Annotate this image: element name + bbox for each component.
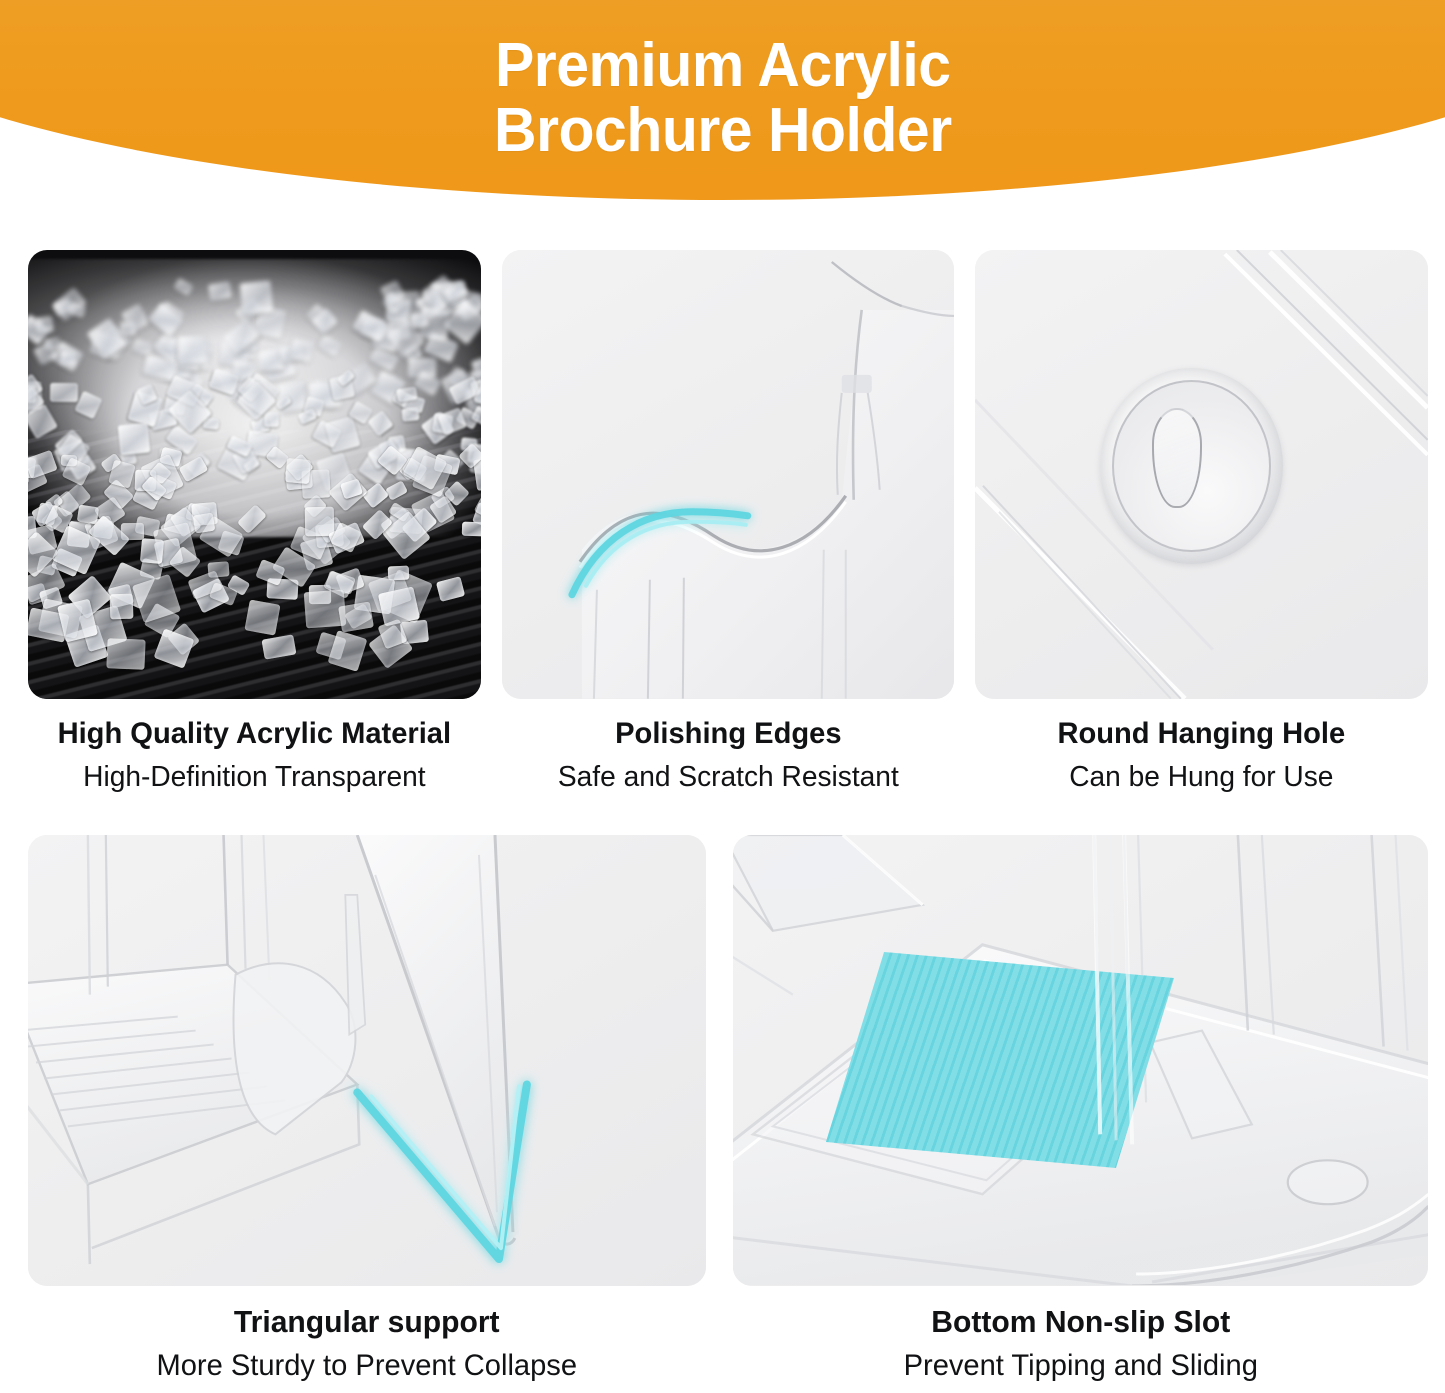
acrylic-pellet (264, 412, 279, 428)
feature-caption-triangular-support: Triangular support More Sturdy to Preven… (28, 1286, 706, 1384)
feature-card-hanging-hole: Round Hanging Hole Can be Hung for Use (975, 250, 1428, 795)
feature-caption-hanging-hole: Round Hanging Hole Can be Hung for Use (975, 699, 1428, 795)
feature-subtitle: Prevent Tipping and Sliding (743, 1347, 1418, 1385)
feature-title: Triangular support (38, 1303, 695, 1341)
feature-subtitle: High-Definition Transparent (35, 759, 474, 795)
polished-edge-illustration (502, 250, 955, 699)
feature-row-bottom: Triangular support More Sturdy to Preven… (28, 835, 1428, 1384)
feature-row-top: High Quality Acrylic Material High-Defin… (28, 250, 1428, 795)
acrylic-pellet (177, 335, 206, 364)
feature-subtitle: Can be Hung for Use (982, 759, 1421, 795)
acrylic-pellet (239, 281, 272, 316)
acrylic-pellet (43, 337, 60, 350)
acrylic-pellet (193, 512, 216, 533)
feature-title: High Quality Acrylic Material (35, 716, 474, 753)
triangular-support-illustration (28, 835, 705, 1285)
feature-card-material: High Quality Acrylic Material High-Defin… (28, 250, 481, 795)
acrylic-pellet (285, 458, 311, 484)
feature-caption-edges: Polishing Edges Safe and Scratch Resista… (502, 699, 955, 795)
acrylic-pellet (402, 407, 420, 421)
acrylic-pellet (244, 599, 280, 635)
feature-image-material (28, 250, 481, 699)
non-slip-slot-foreground (733, 835, 1428, 1285)
feature-image-edges (502, 250, 955, 699)
round-hanging-hole (1100, 368, 1283, 564)
acrylic-pellet (338, 601, 374, 632)
acrylic-pellet (289, 338, 314, 363)
acrylic-pellet (140, 538, 164, 564)
feature-image-triangular-support (28, 835, 706, 1286)
feature-image-non-slip-slot (733, 835, 1428, 1286)
feature-subtitle: More Sturdy to Prevent Collapse (38, 1347, 695, 1385)
feature-title: Round Hanging Hole (982, 716, 1421, 753)
feature-title: Polishing Edges (508, 716, 947, 753)
acrylic-pellet (388, 565, 409, 579)
header-banner (0, 0, 1445, 210)
acrylic-pellet (49, 383, 77, 402)
feature-title: Bottom Non-slip Slot (743, 1303, 1418, 1341)
acrylic-pellet (118, 422, 150, 454)
feature-subtitle: Safe and Scratch Resistant (508, 759, 947, 795)
acrylic-pellet (35, 316, 54, 334)
feature-image-hanging-hole (975, 250, 1428, 699)
header-banner-shape (0, 0, 1445, 200)
feature-caption-material: High Quality Acrylic Material High-Defin… (28, 699, 481, 795)
feature-card-non-slip-slot: Bottom Non-slip Slot Prevent Tipping and… (733, 835, 1428, 1384)
acrylic-pellet (120, 321, 137, 336)
acrylic-pellet (59, 350, 76, 367)
acrylic-pellet (110, 594, 134, 620)
feature-caption-non-slip-slot: Bottom Non-slip Slot Prevent Tipping and… (733, 1286, 1428, 1384)
acrylic-pellets-photo (28, 250, 481, 699)
acrylic-pellet (462, 522, 481, 537)
feature-card-edges: Polishing Edges Safe and Scratch Resista… (502, 250, 955, 795)
feature-card-triangular-support: Triangular support More Sturdy to Preven… (28, 835, 706, 1384)
acrylic-pellet (106, 638, 146, 669)
